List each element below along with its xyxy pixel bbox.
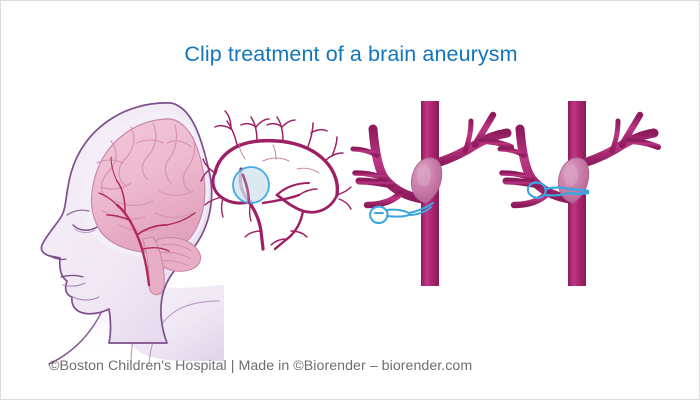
artery-tree [213,141,337,249]
panel-aneurysm-after-clipping [496,101,661,286]
aneurysm-highlight-circle [233,167,269,203]
vessel-branches-right [584,115,658,163]
page-title: Clip treatment of a brain aneurysm [1,42,700,67]
panel-cerebral-vasculature [201,99,351,249]
vessel-branches-left [500,129,570,205]
panel-lateral-head [19,89,224,364]
panel-aneurysm-before-clipping [351,101,511,286]
artery-branches-lateral [201,159,351,245]
vessel-branches-left [353,129,423,205]
artery-branches-superior [215,111,343,161]
figure-caption: ©Boston Children's Hospital | Made in ©B… [49,358,472,374]
figure-canvas: Clip treatment of a brain aneurysm [0,0,700,400]
